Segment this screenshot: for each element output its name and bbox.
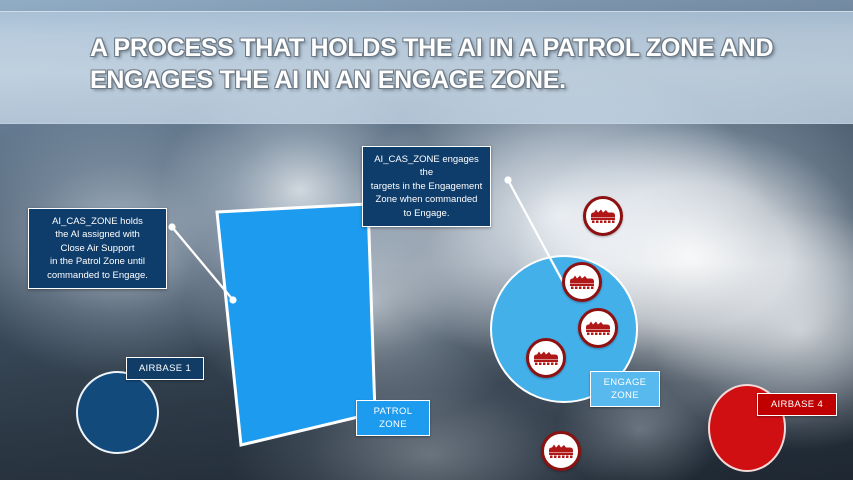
engage-callout-line-2: targets in the Engagement: [370, 180, 483, 193]
engage-zone-label-line-1: ENGAGE: [599, 376, 651, 389]
tank-icon: [568, 274, 596, 291]
tank-icon: [532, 350, 560, 367]
patrol-zone-label-line-2: ZONE: [365, 418, 421, 431]
tank-icon: [584, 320, 612, 337]
target-marker-5[interactable]: [541, 431, 581, 471]
patrol-callout-line-3: Close Air Support: [36, 242, 159, 255]
engage-zone-label-line-2: ZONE: [599, 389, 651, 402]
patrol-leader-end-dot: [229, 296, 236, 303]
patrol-callout-leader-line: [172, 227, 233, 300]
engage-callout-line-1: AI_CAS_ZONE engages the: [370, 153, 483, 180]
engage-leader-start-dot: [504, 176, 511, 183]
patrol-callout-line-5: commanded to Engage.: [36, 269, 159, 282]
patrol-callout-line-2: the AI assigned with: [36, 228, 159, 241]
target-marker-2[interactable]: [562, 262, 602, 302]
engage-zone-label[interactable]: ENGAGE ZONE: [590, 371, 660, 407]
target-marker-3[interactable]: [578, 308, 618, 348]
engage-callout-line-3: Zone when commanded: [370, 193, 483, 206]
tank-icon: [547, 443, 575, 460]
patrol-callout-line-4: in the Patrol Zone until: [36, 255, 159, 268]
patrol-callout-box[interactable]: AI_CAS_ZONE holds the AI assigned with C…: [28, 208, 167, 289]
airbase-1-label[interactable]: AIRBASE 1: [126, 357, 204, 380]
patrol-callout-line-1: AI_CAS_ZONE holds: [36, 215, 159, 228]
patrol-zone-label-line-1: PATROL: [365, 405, 421, 418]
engage-callout-leader-line: [508, 180, 563, 282]
target-marker-1[interactable]: [583, 196, 623, 236]
patrol-leader-start-dot: [168, 223, 175, 230]
target-marker-4[interactable]: [526, 338, 566, 378]
engage-callout-box[interactable]: AI_CAS_ZONE engages the targets in the E…: [362, 146, 491, 227]
airbase-4-label[interactable]: AIRBASE 4: [757, 393, 837, 416]
engage-callout-line-4: to Engage.: [370, 207, 483, 220]
slide-canvas: A PROCESS THAT HOLDS THE AI IN A PATROL …: [0, 0, 853, 480]
patrol-zone-label[interactable]: PATROL ZONE: [356, 400, 430, 436]
tank-icon: [589, 208, 617, 225]
